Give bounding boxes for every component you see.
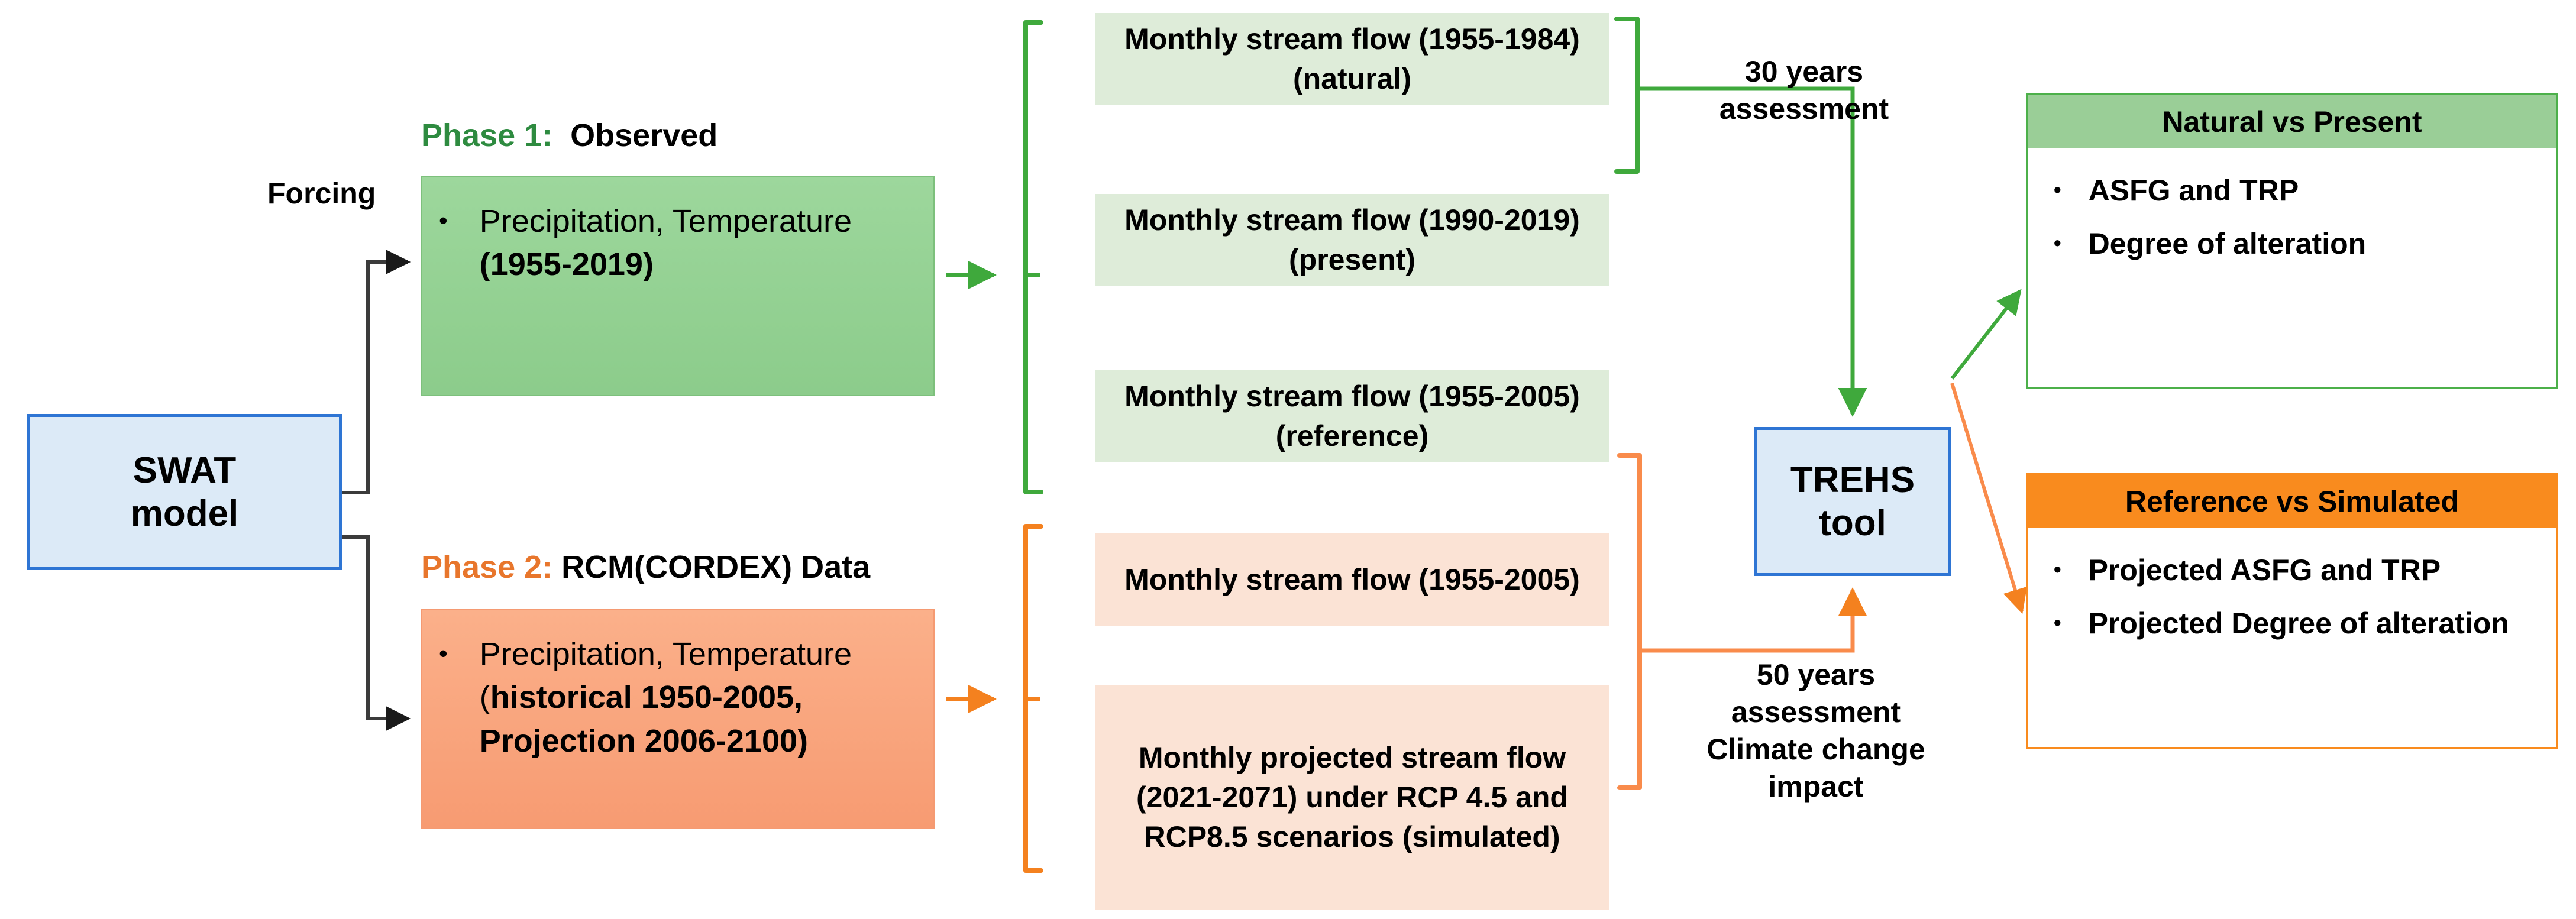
- output-item-projected-asfg-trp: Projected ASFG and TRP: [2089, 549, 2539, 591]
- streamflow-box-historical[interactable]: Monthly stream flow (1955-2005): [1095, 533, 1609, 626]
- list-item: • Projected ASFG and TRP: [2054, 549, 2539, 591]
- connector-trehs-to-reference-simulated: [1952, 383, 2022, 611]
- phase-1-bullet-plain: Precipitation, Temperature: [480, 203, 852, 239]
- bullet-icon: •: [2054, 179, 2061, 200]
- streamflow-box-projected[interactable]: Monthly projected stream flow (2021-2071…: [1095, 685, 1609, 910]
- phase-1-suffix: Observed: [570, 118, 717, 153]
- output-card-natural-vs-present[interactable]: Natural vs Present • ASFG and TRP • Degr…: [2026, 93, 2558, 389]
- swat-model-line1: SWAT: [131, 449, 239, 492]
- assessment-label-lower: 50 years assessment Climate change impac…: [1674, 656, 1958, 805]
- streamflow-box-natural[interactable]: Monthly stream flow (1955-1984) (natural…: [1095, 13, 1609, 105]
- forcing-label: Forcing: [267, 176, 376, 211]
- streamflow-reference-label: Monthly stream flow (1955-2005) (referen…: [1110, 377, 1595, 456]
- trehs-tool-line2: tool: [1790, 501, 1915, 545]
- output-header-natural-vs-present: Natural vs Present: [2028, 95, 2556, 148]
- bullet-icon: •: [2054, 232, 2061, 254]
- phase-2-box[interactable]: • Precipitation, Temperature (historical…: [421, 609, 935, 829]
- connector-swat-to-phase1: [342, 262, 408, 493]
- flowchart-canvas: SWAT model Forcing Phase 1: Observed • P…: [0, 0, 2576, 919]
- swat-model-line2: model: [131, 492, 239, 535]
- output-body-reference-vs-simulated: • Projected ASFG and TRP • Projected Deg…: [2028, 528, 2556, 674]
- phase-1-prefix: Phase 1:: [421, 118, 552, 153]
- bullet-icon: •: [439, 641, 448, 666]
- list-item: • ASFG and TRP: [2054, 170, 2539, 211]
- connector-swat-to-phase2: [342, 537, 408, 719]
- streamflow-present-label: Monthly stream flow (1990-2019) (present…: [1110, 200, 1595, 280]
- output-item-degree-alteration: Degree of alteration: [2089, 223, 2539, 264]
- phase-2-suffix: RCM(CORDEX) Data: [561, 549, 870, 585]
- list-item: • Degree of alteration: [2054, 223, 2539, 264]
- assessment-label-upper: 30 years assessment: [1674, 53, 1934, 128]
- phase-1-box[interactable]: • Precipitation, Temperature (1955-2019): [421, 176, 935, 396]
- bullet-icon: •: [2054, 559, 2061, 580]
- output-item-projected-degree-alteration: Projected Degree of alteration: [2089, 603, 2539, 644]
- bullet-icon: •: [439, 208, 448, 233]
- streamflow-natural-label: Monthly stream flow (1955-1984) (natural…: [1110, 20, 1595, 99]
- bullet-icon: •: [2054, 612, 2061, 633]
- output-item-asfg-trp: ASFG and TRP: [2089, 170, 2539, 211]
- bracket-orange-left: [1026, 526, 1041, 871]
- streamflow-box-reference[interactable]: Monthly stream flow (1955-2005) (referen…: [1095, 370, 1609, 462]
- streamflow-box-present[interactable]: Monthly stream flow (1990-2019) (present…: [1095, 194, 1609, 286]
- bracket-green-left: [1026, 22, 1041, 492]
- output-card-reference-vs-simulated[interactable]: Reference vs Simulated • Projected ASFG …: [2026, 473, 2558, 749]
- streamflow-historical-label: Monthly stream flow (1955-2005): [1124, 560, 1580, 600]
- output-title-natural-vs-present: Natural vs Present: [2162, 105, 2422, 139]
- streamflow-projected-label: Monthly projected stream flow (2021-2071…: [1110, 738, 1595, 857]
- connector-trehs-to-natural-present: [1952, 291, 2020, 378]
- output-title-reference-vs-simulated: Reference vs Simulated: [2125, 484, 2459, 519]
- output-header-reference-vs-simulated: Reference vs Simulated: [2028, 475, 2556, 528]
- swat-model-box[interactable]: SWAT model: [27, 414, 342, 570]
- phase-1-bullet-text: Precipitation, Temperature (1955-2019): [480, 200, 918, 287]
- phase-1-label: Phase 1: Observed: [421, 117, 717, 154]
- phase-2-bullet-bold: historical 1950-2005, Projection 2006-21…: [480, 679, 808, 758]
- phase-2-bullet-text: Precipitation, Temperature (historical 1…: [480, 633, 918, 763]
- phase-2-prefix: Phase 2:: [421, 549, 552, 585]
- phase-2-label: Phase 2: RCM(CORDEX) Data: [421, 549, 870, 585]
- trehs-tool-line1: TREHS: [1790, 458, 1915, 501]
- phase-1-bullet-bold: (1955-2019): [480, 247, 654, 282]
- trehs-tool-box[interactable]: TREHS tool: [1754, 427, 1951, 576]
- list-item: • Projected Degree of alteration: [2054, 603, 2539, 644]
- output-body-natural-vs-present: • ASFG and TRP • Degree of alteration: [2028, 148, 2556, 294]
